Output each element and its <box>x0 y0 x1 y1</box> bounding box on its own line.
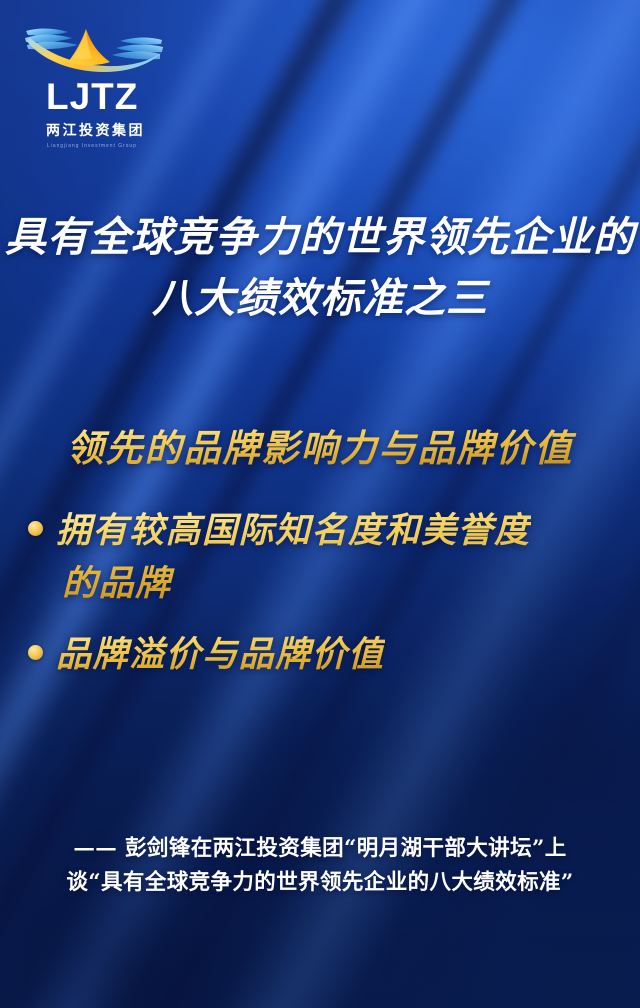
ljtz-wing-swoosh-logo-icon <box>24 18 164 72</box>
logo-company-name-en: Liangjiang Investment Group <box>47 143 169 149</box>
list-item-line-1: 拥有较高国际知名度和美誉度 <box>56 511 531 551</box>
list-item-line-1: 品牌溢价与品牌价值 <box>56 635 385 675</box>
bullet-list: 拥有较高国际知名度和美誉度 的品牌 品牌溢价与品牌价值 <box>22 505 622 701</box>
page-title: 具有全球竞争力的世界领先企业的 八大绩效标准之三 <box>0 207 640 328</box>
attribution-quote: —— 彭剑锋在两江投资集团“明月湖干部大讲坛”上 谈“具有全球竞争力的世界领先企… <box>26 832 614 900</box>
list-item-line-2: 的品牌 <box>56 558 531 611</box>
section-heading: 领先的品牌影响力与品牌价值 <box>0 425 640 473</box>
list-item: 品牌溢价与品牌价值 <box>22 629 622 682</box>
bullet-dot-icon <box>28 645 43 660</box>
attribution-line-2: 谈“具有全球竞争力的世界领先企业的八大绩效标准” <box>26 866 614 900</box>
logo-company-name-cn: 两江投资集团 <box>46 120 174 140</box>
company-logo: LJTZ 两江投资集团 Liangjiang Investment Group <box>24 18 174 149</box>
bullet-dot-icon <box>28 521 43 536</box>
list-item: 拥有较高国际知名度和美誉度 的品牌 <box>22 505 622 611</box>
list-item-text: 拥有较高国际知名度和美誉度 的品牌 <box>56 505 531 611</box>
logo-wordmark: LJTZ <box>46 78 174 115</box>
list-item-text: 品牌溢价与品牌价值 <box>56 629 385 682</box>
attribution-line-1: —— 彭剑锋在两江投资集团“明月湖干部大讲坛”上 <box>26 832 614 866</box>
page-title-line-1: 具有全球竞争力的世界领先企业的 <box>0 207 640 268</box>
poster-canvas: LJTZ 两江投资集团 Liangjiang Investment Group … <box>0 0 640 1008</box>
page-title-line-2: 八大绩效标准之三 <box>0 268 640 329</box>
